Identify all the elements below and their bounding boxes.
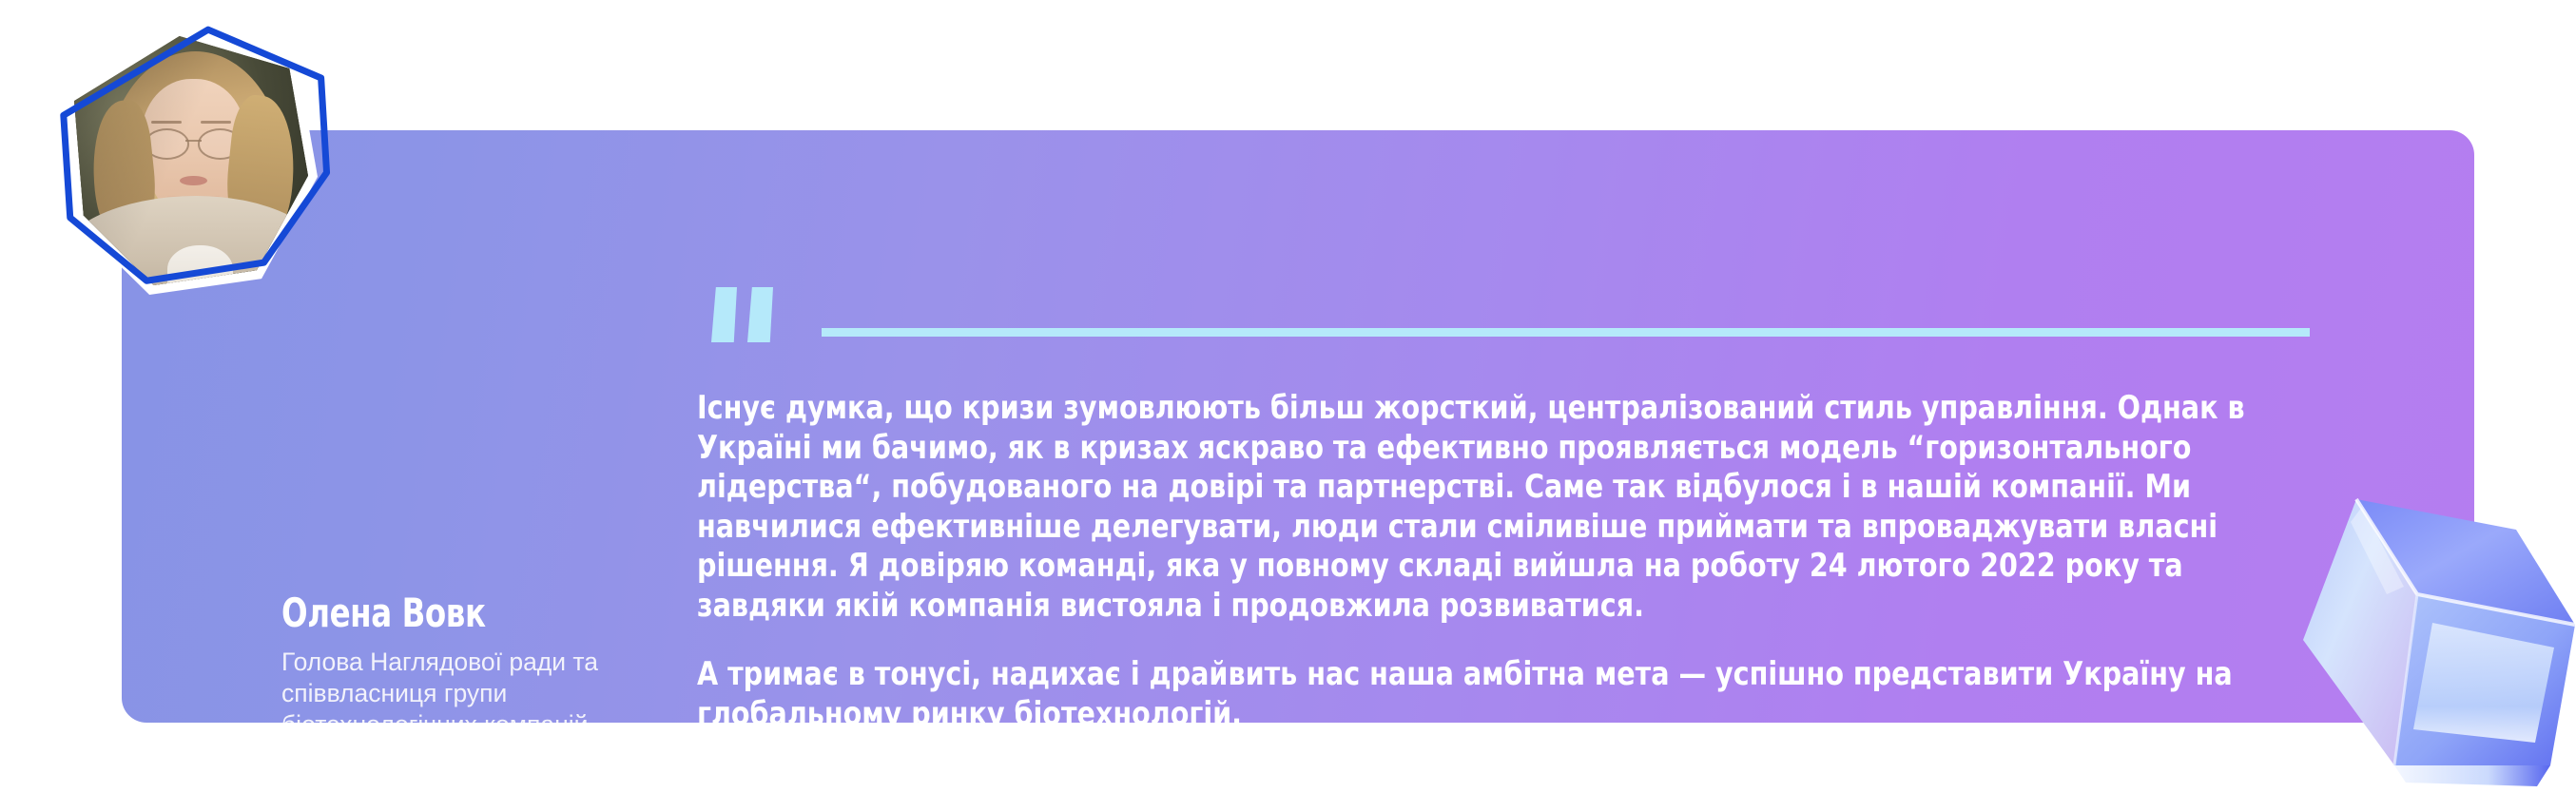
quote-paragraph-2: А тримає в тонусі, надихає і драйвить на… <box>697 655 2297 723</box>
speaker-name: Олена Вовк <box>281 593 609 633</box>
quote-text: Існує думка, що кризи зумовлюють більш ж… <box>697 389 2409 723</box>
quote-paragraph-1: Існує думка, що кризи зумовлюють більш ж… <box>697 389 2297 626</box>
speaker-role: Голова Наглядової ради та співвласниця г… <box>281 647 652 723</box>
divider-rule <box>822 328 2310 337</box>
open-quote-icon <box>711 287 780 342</box>
quote-glyph-left <box>711 287 737 342</box>
quote-header <box>711 287 2328 344</box>
quote-glyph-right <box>747 287 773 342</box>
cube-bevel-bottom <box>2394 765 2550 786</box>
portrait-wrapper <box>49 13 333 308</box>
speaker-block: Олена Вовк Голова Наглядової ради та спі… <box>281 593 662 723</box>
quote-card: Існує думка, що кризи зумовлюють більш ж… <box>122 130 2474 723</box>
